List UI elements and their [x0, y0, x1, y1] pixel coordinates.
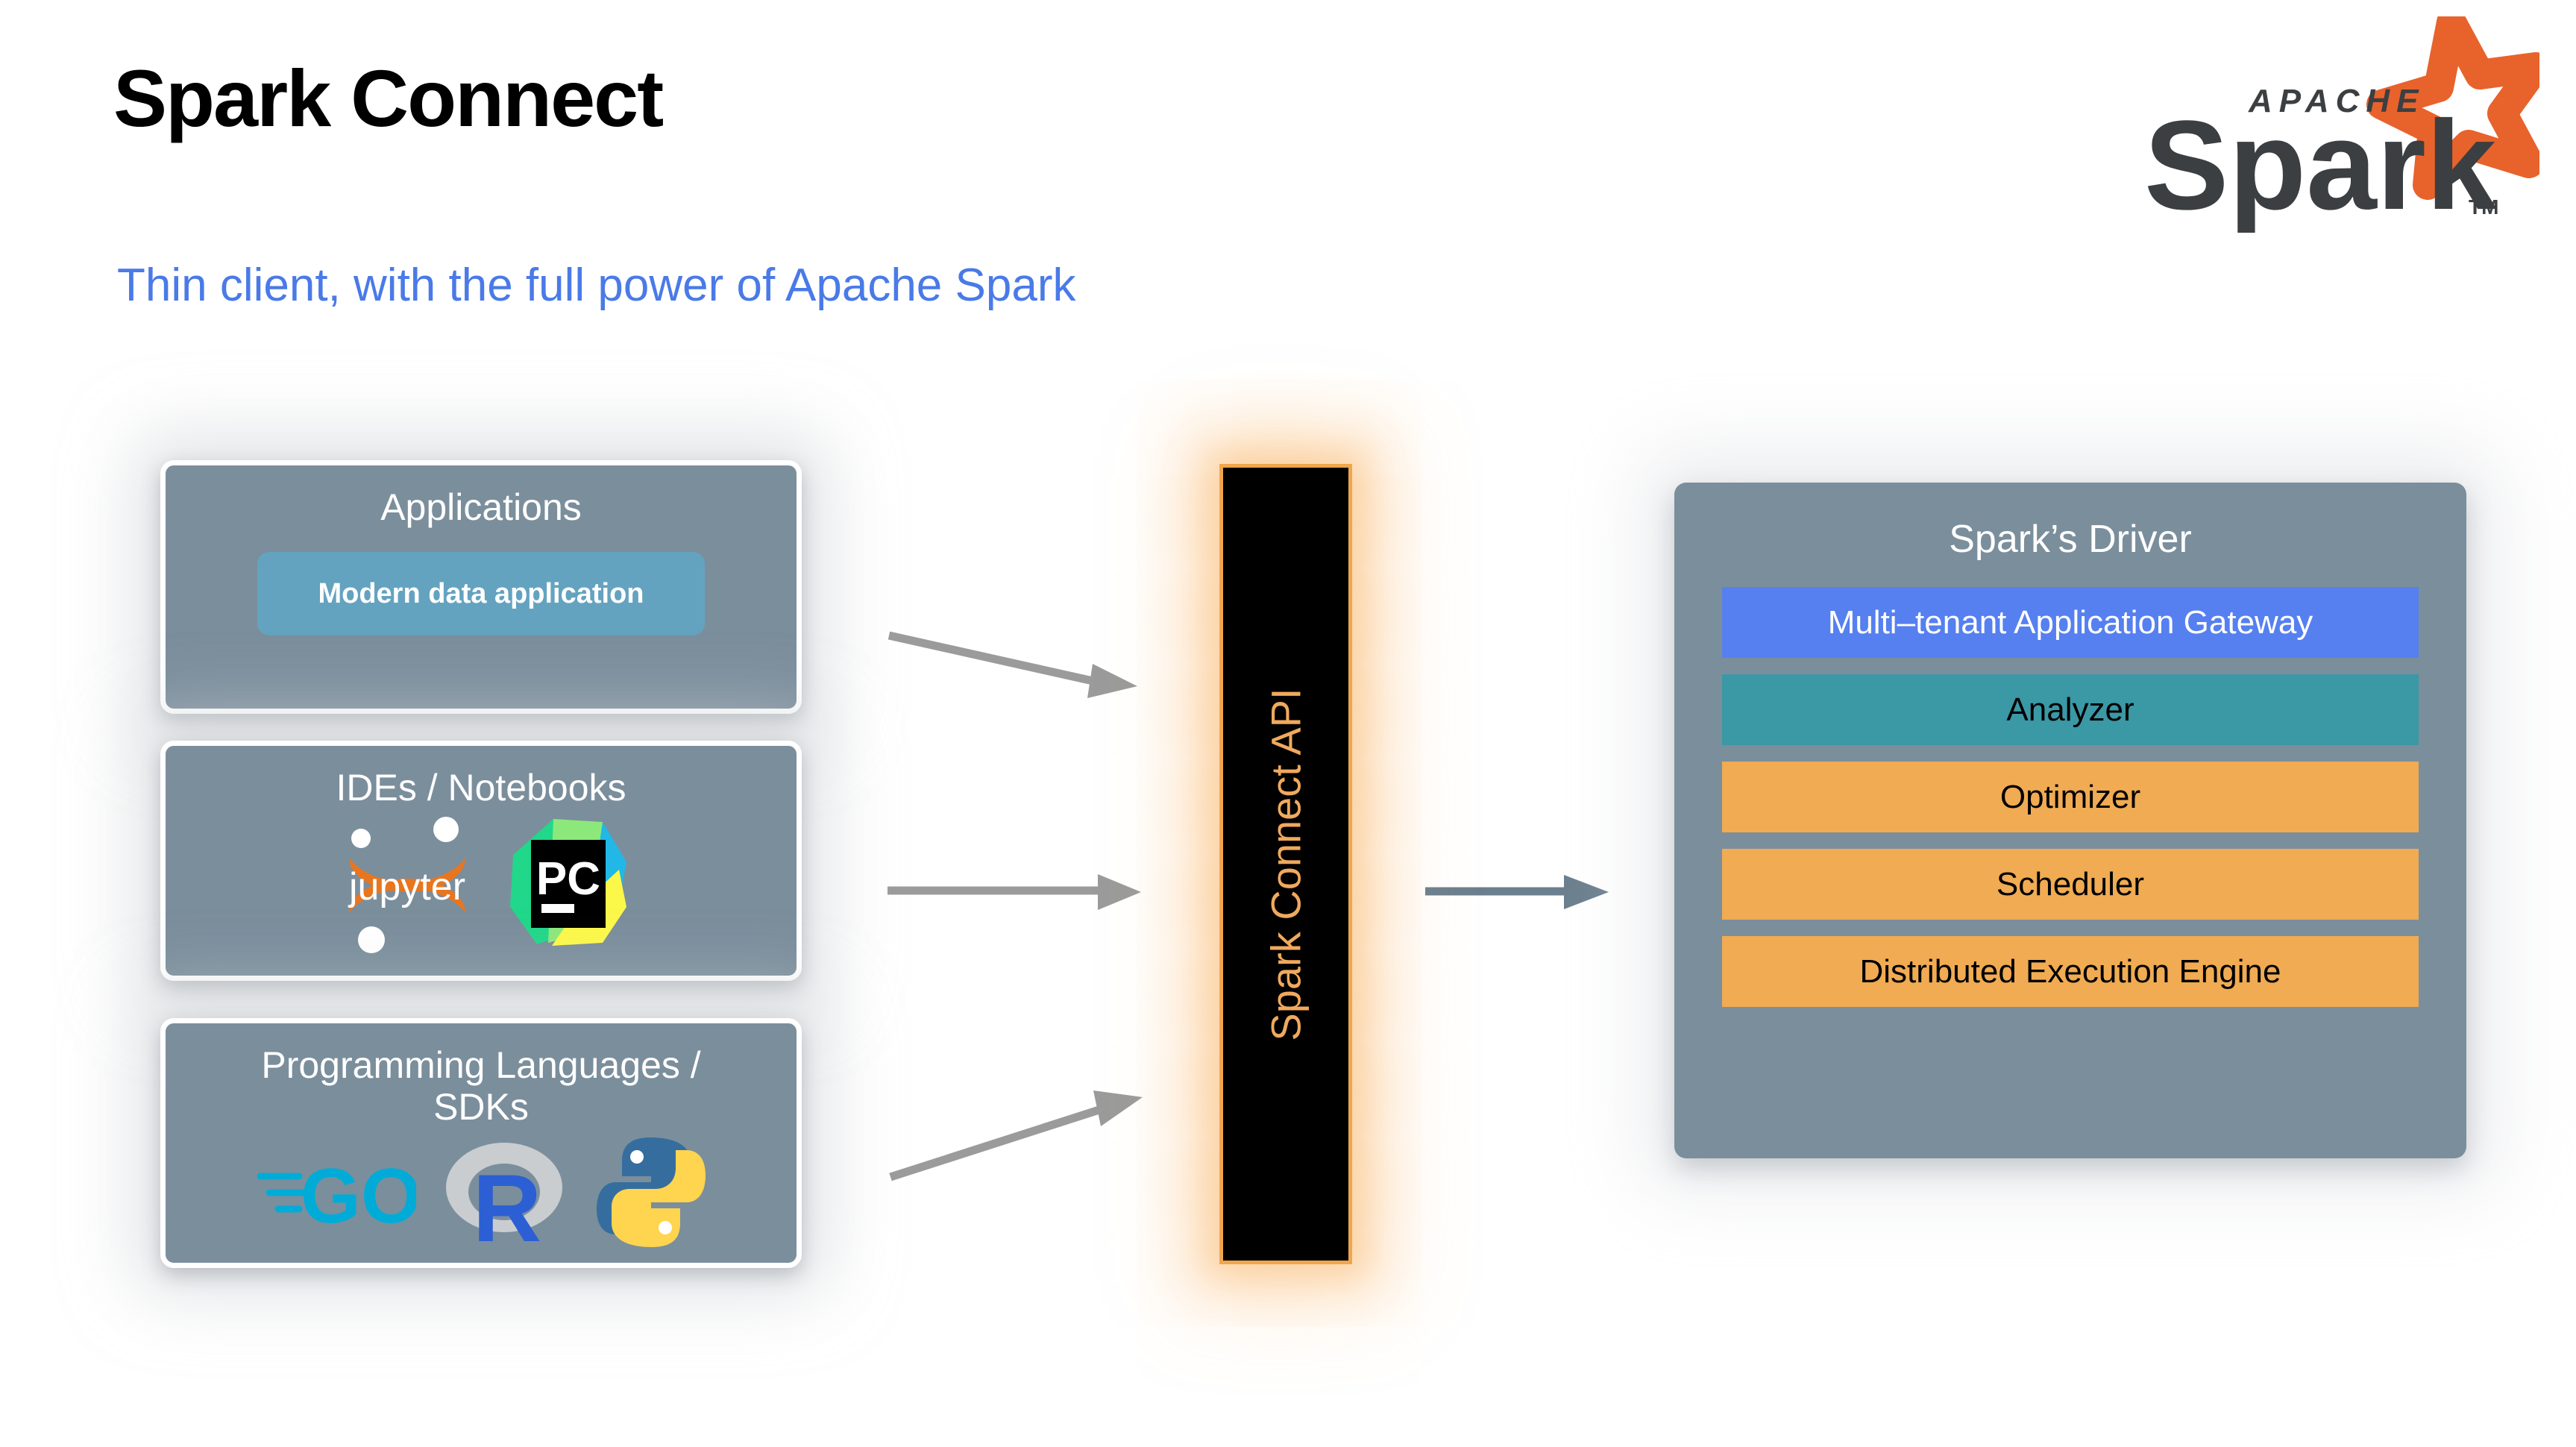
r-letter-text: R [472, 1155, 541, 1252]
panel-title-ides-notebooks: IDEs / Notebooks [336, 767, 626, 809]
client-panel-applications[interactable]: Applications Modern data application [160, 460, 802, 714]
logo-trademark-text: TM [2469, 195, 2498, 219]
driver-row-distributed-execution-engine[interactable]: Distributed Execution Engine [1722, 936, 2419, 1007]
languages-logo-row: GO R [166, 1132, 797, 1255]
go-wordmark-text: GO [301, 1153, 416, 1240]
client-panel-programming-languages[interactable]: Programming Languages / SDKs GO [160, 1018, 802, 1268]
arrow-api-to-driver [1421, 861, 1637, 921]
spark-driver-title: Spark’s Driver [1949, 517, 2192, 562]
jupyter-wordmark-text: jupyter [347, 865, 465, 908]
slide-canvas: Spark Connect Thin client, with the full… [0, 0, 2576, 1447]
arrow-ides-to-api [880, 858, 1193, 925]
page-title: Spark Connect [113, 58, 662, 139]
page-subtitle: Thin client, with the full power of Apac… [117, 263, 1075, 309]
r-logo: R [439, 1132, 573, 1255]
arrow-applications-to-api [880, 619, 1193, 738]
pycharm-letters-text: PC [535, 853, 600, 905]
spark-connect-api-label: Spark Connect API [1262, 688, 1310, 1040]
go-logo: GO [256, 1143, 416, 1244]
spark-connect-api-bar[interactable]: Spark Connect API [1219, 464, 1352, 1264]
driver-row-label: Scheduler [1997, 866, 2144, 903]
driver-row-label: Optimizer [2000, 779, 2140, 816]
driver-row-label: Analyzer [2006, 691, 2134, 729]
jupyter-logo: jupyter [333, 812, 482, 957]
spark-driver-panel[interactable]: Spark’s Driver Multi–tenant Application … [1674, 483, 2466, 1158]
modern-data-application-chip[interactable]: Modern data application [257, 552, 705, 635]
arrow-langs-to-api [880, 1044, 1193, 1193]
driver-row-label: Distributed Execution Engine [1860, 953, 2281, 991]
logo-wordmark-text: Spark [2144, 95, 2497, 233]
panel-title-applications: Applications [380, 486, 582, 528]
driver-row-scheduler[interactable]: Scheduler [1722, 849, 2419, 920]
driver-row-analyzer[interactable]: Analyzer [1722, 674, 2419, 745]
modern-data-application-label: Modern data application [318, 578, 644, 610]
driver-row-optimizer[interactable]: Optimizer [1722, 762, 2419, 832]
driver-row-label: Multi–tenant Application Gateway [1828, 604, 2313, 641]
python-logo [595, 1134, 707, 1254]
pycharm-logo: PC [507, 817, 630, 952]
driver-row-multi-tenant-application-gateway[interactable]: Multi–tenant Application Gateway [1722, 587, 2419, 658]
client-panel-ides-notebooks[interactable]: IDEs / Notebooks jupyter [160, 741, 802, 981]
ides-logo-row: jupyter PC [166, 812, 797, 957]
panel-title-programming-languages: Programming Languages / SDKs [261, 1044, 700, 1128]
apache-spark-logo: APACHE Spark TM [2129, 16, 2539, 233]
